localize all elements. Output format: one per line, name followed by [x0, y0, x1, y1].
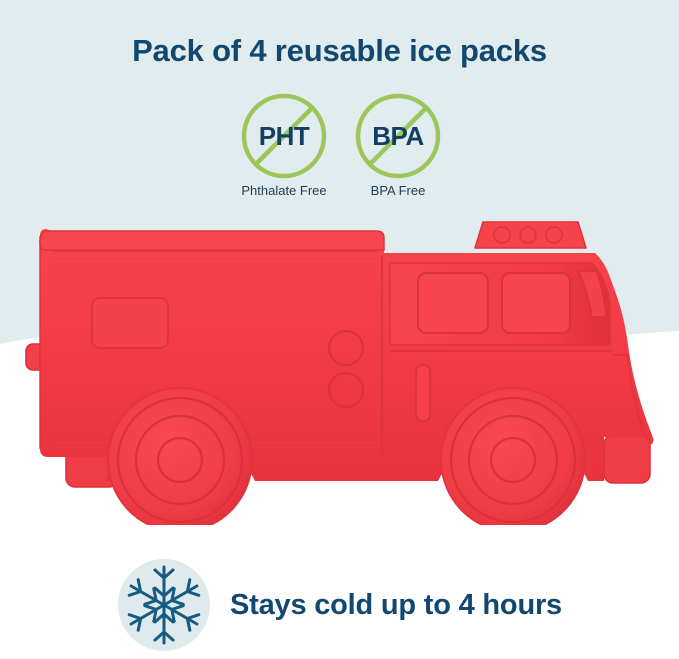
footer-banner: Stays cold up to 4 hours — [118, 559, 562, 651]
no-bpa-icon: BPA — [354, 92, 442, 180]
product-image: Pack of 4 reusable ice packs PHT Phthala… — [0, 0, 679, 659]
footer-text: Stays cold up to 4 hours — [230, 589, 562, 622]
badge-bpa-free: BPA BPA Free — [350, 92, 446, 204]
certification-badges: PHT Phthalate Free BPA BPA Free — [236, 92, 446, 204]
front-bumper — [604, 435, 650, 483]
fire-truck-ice-pack — [0, 205, 679, 525]
badge-mark-label: BPA — [354, 123, 442, 149]
rear-wheel — [108, 388, 252, 525]
cab-window-front — [502, 273, 570, 333]
badge-mark-label: PHT — [240, 123, 328, 149]
body-panel — [92, 298, 168, 348]
cab-window-rear — [418, 273, 488, 333]
badge-phthalate-free: PHT Phthalate Free — [236, 92, 332, 204]
light-bar — [475, 222, 586, 248]
no-phthalate-icon: PHT — [240, 92, 328, 180]
badge-caption: BPA Free — [371, 183, 426, 198]
door-handle — [416, 365, 430, 421]
badge-caption: Phthalate Free — [241, 183, 326, 198]
front-wheel — [441, 388, 585, 525]
page-title: Pack of 4 reusable ice packs — [0, 33, 679, 69]
snowflake-icon — [118, 559, 210, 651]
